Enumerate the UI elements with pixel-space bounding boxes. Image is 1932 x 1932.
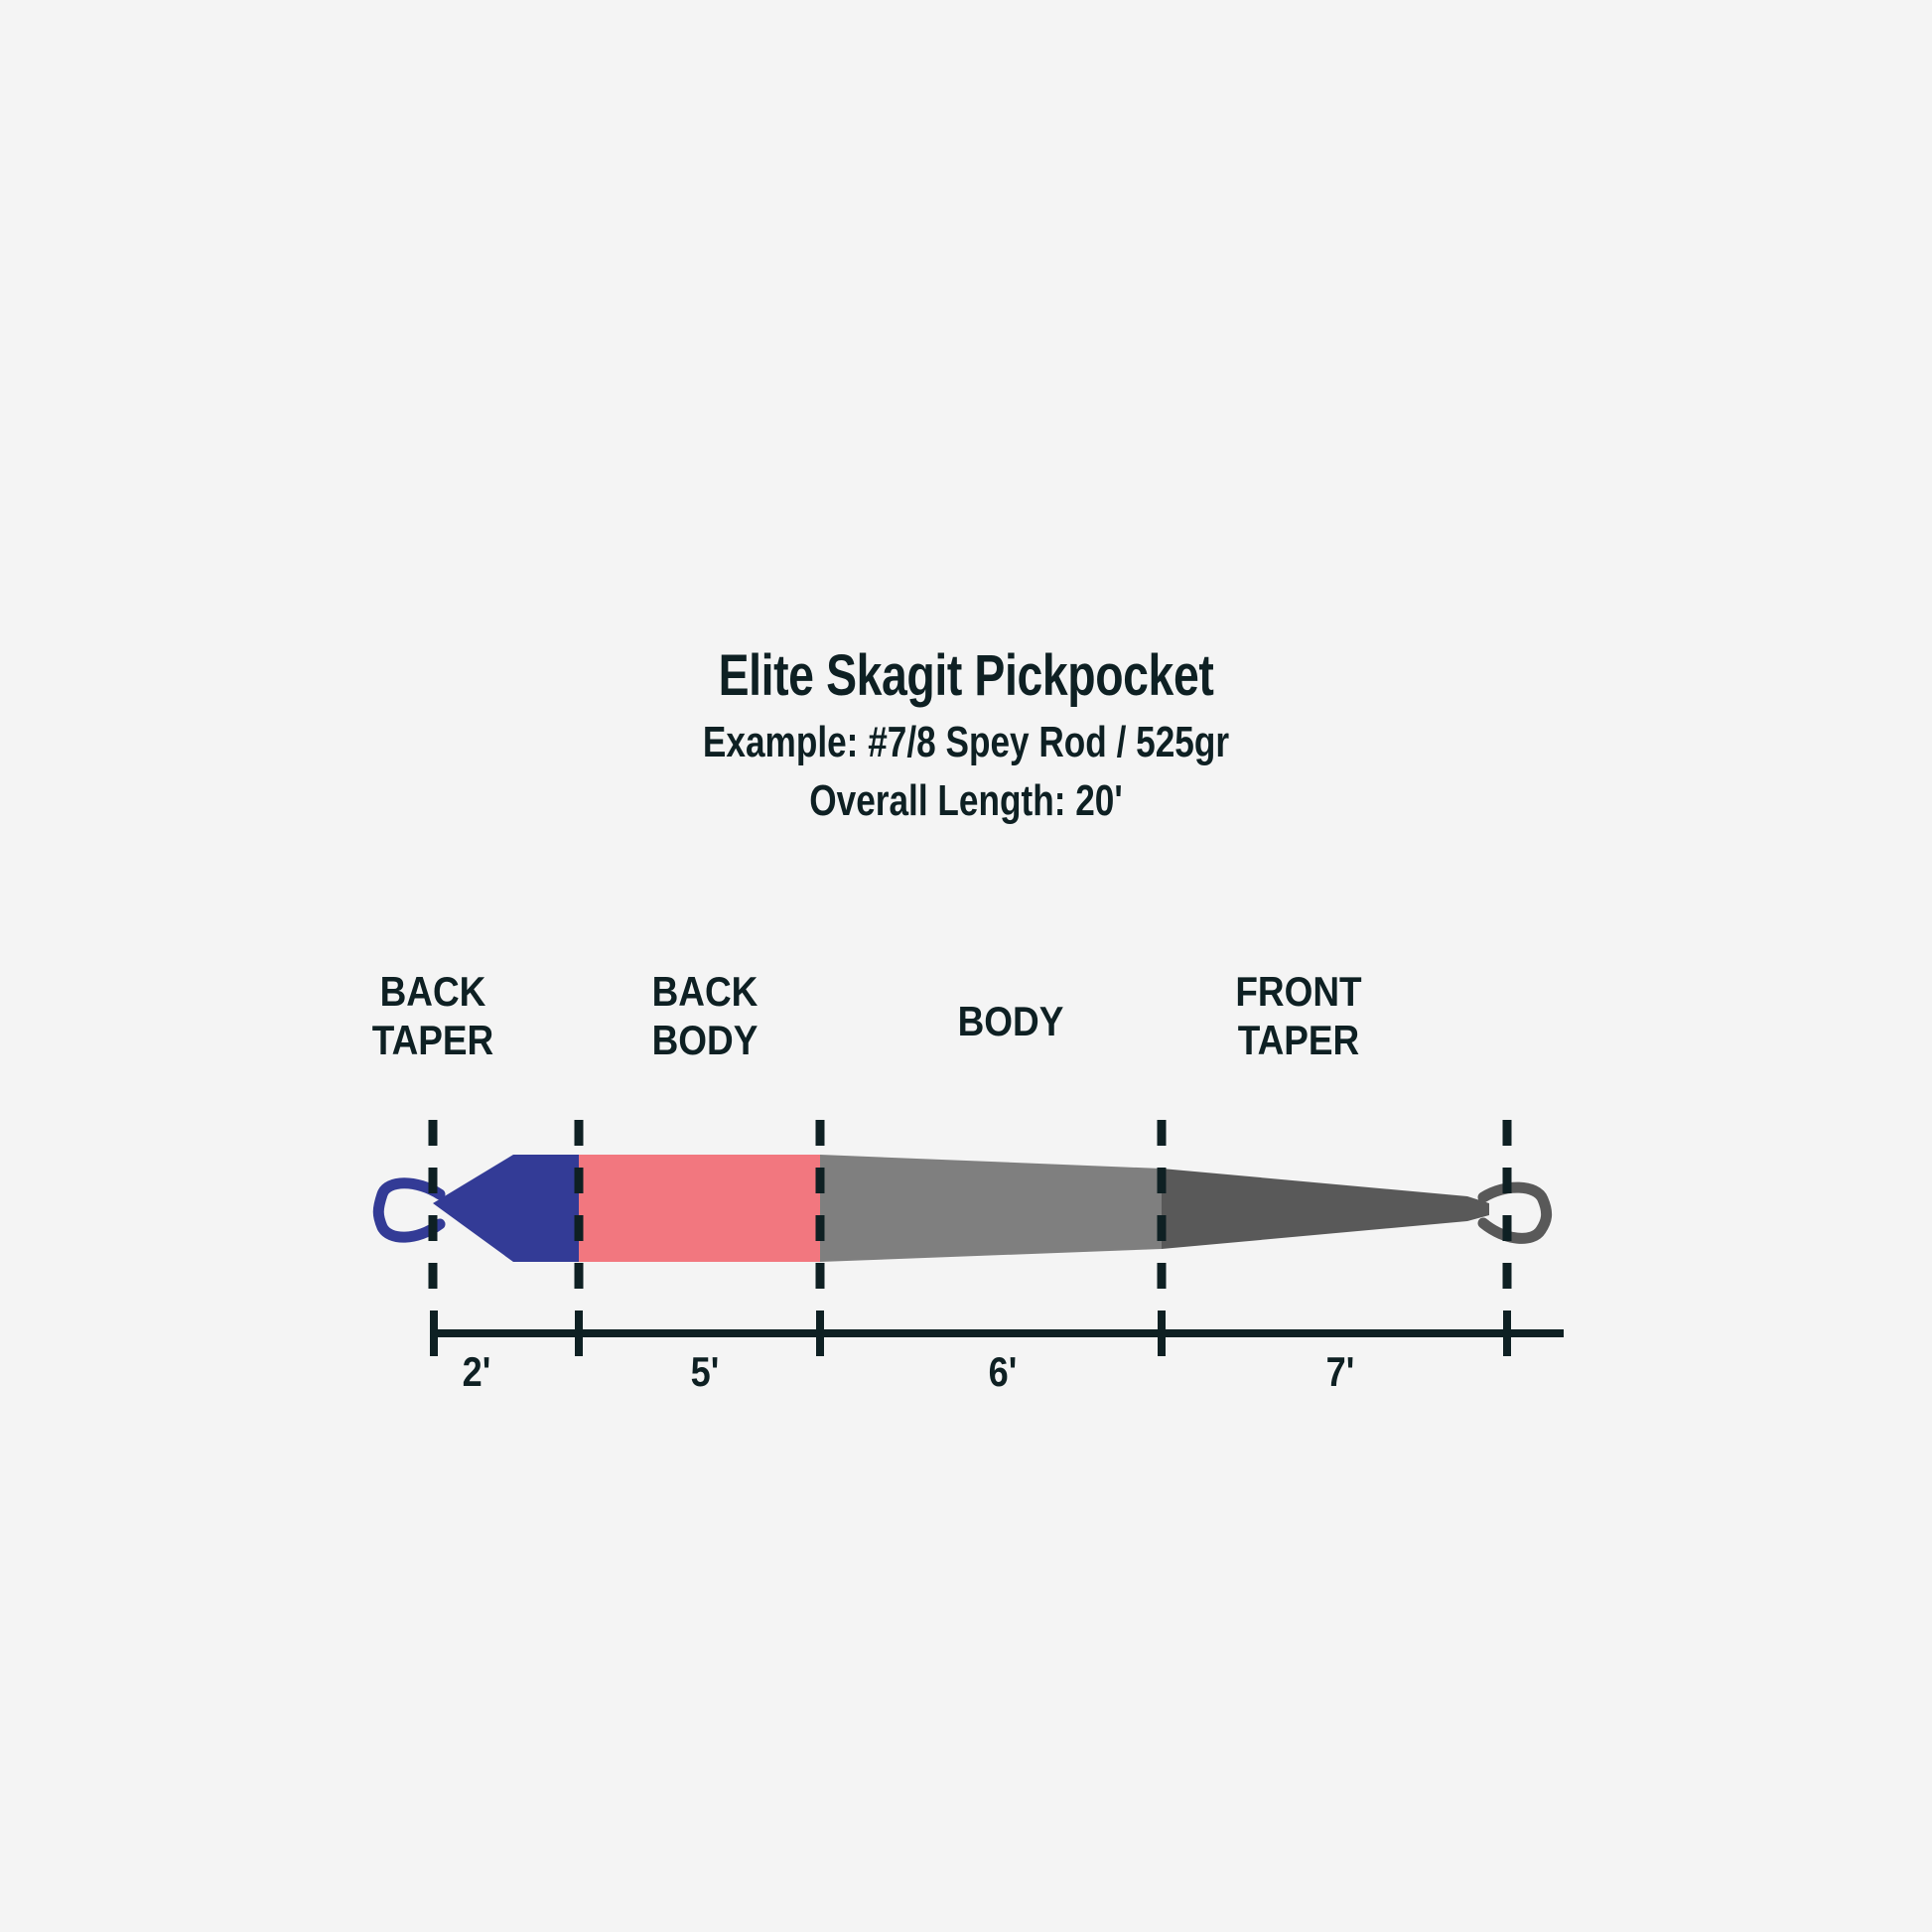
front-loop-icon — [1483, 1187, 1547, 1238]
segment-shape-back-body — [579, 1155, 820, 1262]
segment-shape-body — [820, 1155, 1162, 1262]
segment-shape-front-taper — [1162, 1169, 1489, 1249]
diagram-canvas: Elite Skagit Pickpocket Example: #7/8 Sp… — [0, 0, 1932, 1932]
segment-shape-back-taper — [433, 1155, 579, 1262]
taper-profile-svg — [0, 0, 1932, 1932]
